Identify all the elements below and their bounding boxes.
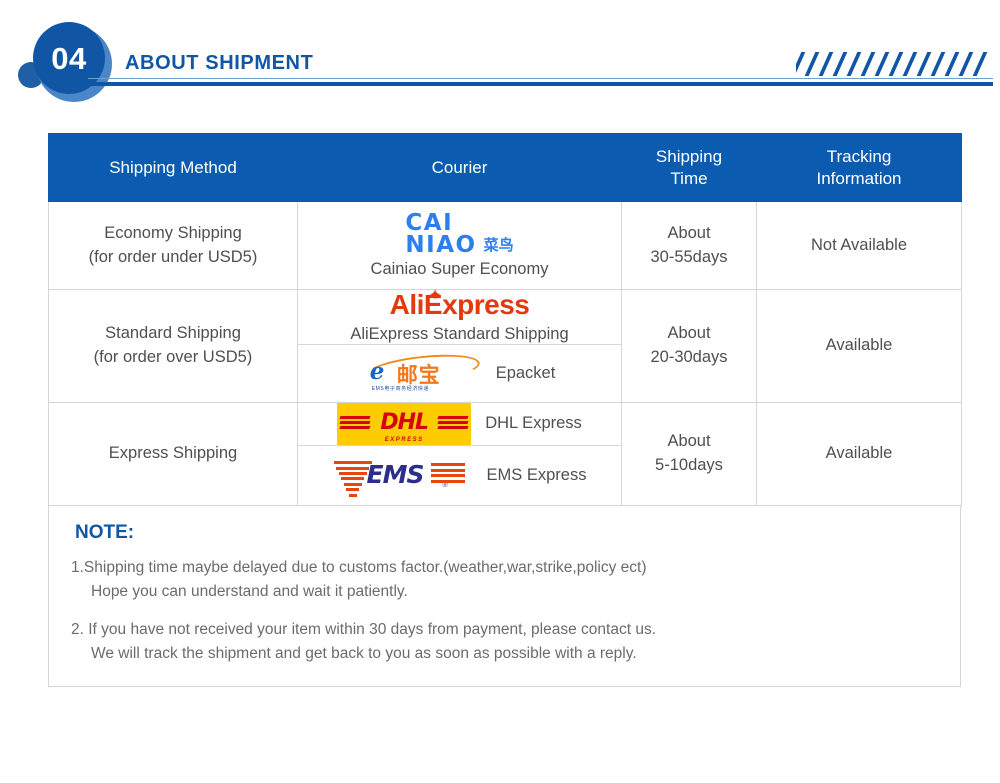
courier-name: EMS Express [487,466,587,485]
ems-logo-text: EMS [367,460,424,489]
cell-shipping-time: About 30-55days [622,202,757,290]
cell-shipping-time: About 5-10days [622,402,757,505]
courier-row: EMS ® EMS Express [298,457,621,493]
diagonal-stripe [861,52,876,76]
diagonal-stripes-icon [796,52,994,76]
diagonal-stripe [917,52,932,76]
courier-row: e 邮宝 EMS电子商务经济快递 Epacket [298,355,621,391]
column-header-shipping-time-line1: Shipping [622,146,756,168]
shipping-time-text: About 20-30days [622,314,756,378]
header-rule-thin [88,78,993,79]
diagonal-stripe [973,52,988,76]
tracking-status: Available [757,434,961,474]
cell-courier: EMS ® EMS Express [298,445,622,505]
aliexpress-logo-text: AliExpress [390,289,530,320]
courier-row: DHL EXPRESS DHL Express [298,403,621,445]
cainiao-logo: CAI NIAO 菜鸟 [405,212,513,256]
shipping-method-line2: (for order under USD5) [55,246,291,270]
diagonal-stripe [959,52,974,76]
section-number: 04 [51,43,86,74]
diagonal-stripe [903,52,918,76]
courier-name: Epacket [496,364,556,383]
shipping-time-line1: About [628,222,750,246]
cainiao-logo-chinese: 菜鸟 [484,234,514,256]
header-rule [88,82,993,86]
shipping-method-text: Standard Shipping (for order over USD5) [49,314,297,378]
cell-shipping-method: Standard Shipping (for order over USD5) [49,290,298,403]
dhl-right-bars-icon [438,416,468,429]
ems-stripe [344,483,362,486]
column-header-shipping-time: Shipping Time [622,134,757,202]
ems-stripe [349,494,357,497]
note-item-2-line-2: We will track the shipment and get back … [49,642,960,666]
cell-tracking-information: Not Available [757,202,962,290]
diagonal-stripe [796,52,805,76]
column-header-tracking-line1: Tracking [757,146,961,168]
tracking-status: Not Available [757,226,961,266]
shipping-table-wrapper: Shipping Method Courier Shipping Time Tr… [48,133,961,687]
dhl-logo: DHL EXPRESS [337,403,471,445]
cell-courier: ✦ AliExpress AliExpress Standard Shippin… [298,290,622,345]
cell-courier: DHL EXPRESS DHL Express [298,402,622,445]
note-item-1-line-1: 1.Shipping time maybe delayed due to cus… [49,556,960,580]
note-spacer [49,604,960,618]
cell-tracking-information: Available [757,290,962,403]
shipping-method-text: Express Shipping [49,434,297,474]
cell-courier: e 邮宝 EMS电子商务经济快递 Epacket [298,344,622,402]
cell-shipping-time: About 20-30days [622,290,757,403]
courier-name: Cainiao Super Economy [298,260,621,279]
column-header-tracking-information: Tracking Information [757,134,962,202]
ems-stripe [341,477,364,480]
cell-courier: CAI NIAO 菜鸟 Cainiao Super Economy [298,202,622,290]
ems-logo: EMS ® [333,457,473,493]
epacket-logo: e 邮宝 EMS电子商务经济快递 [364,355,482,391]
shipping-time-line2: 30-55days [628,246,750,270]
page-title: ABOUT SHIPMENT [125,52,313,75]
diagonal-stripe [833,52,848,76]
diagonal-stripe [945,52,960,76]
aliexpress-logo: ✦ AliExpress [390,290,530,321]
dhl-logo-subtext: EXPRESS [337,437,471,443]
shipping-time-line2: 20-30days [628,346,750,370]
epacket-logo-tagline: EMS电子商务经济快递 [372,385,429,392]
courier-name: AliExpress Standard Shipping [298,325,621,344]
note-title: NOTE: [49,520,960,556]
shipping-time-line1: About [628,322,750,346]
shipping-method-line1: Standard Shipping [55,322,291,346]
diagonal-stripe [805,52,820,76]
diagonal-stripe [819,52,834,76]
cell-shipping-method: Economy Shipping (for order under USD5) [49,202,298,290]
diagonal-stripe [847,52,862,76]
cell-shipping-method: Express Shipping [49,402,298,505]
aliexpress-star-icon: ✦ [430,288,440,302]
column-header-tracking-line2: Information [757,168,961,190]
cainiao-logo-letters: CAI NIAO [405,212,476,256]
column-header-shipping-time-line2: Time [622,168,756,190]
note-section: NOTE: 1.Shipping time maybe delayed due … [48,506,961,687]
table-header-row: Shipping Method Courier Shipping Time Tr… [49,134,962,202]
diagonal-stripe [931,52,946,76]
ems-stripe [346,488,359,491]
shipping-method-line1: Express Shipping [55,442,291,466]
tracking-status: Available [757,326,961,366]
cainiao-logo-line2: NIAO [405,234,476,256]
shipping-method-line1: Economy Shipping [55,222,291,246]
cainiao-logo-line1: CAI [405,212,476,234]
ems-stripe [336,467,369,470]
column-header-courier: Courier [298,134,622,202]
ems-right-bars-icon [431,463,465,485]
section-header: 04 ABOUT SHIPMENT [0,0,1000,110]
diagonal-stripe [875,52,890,76]
cell-tracking-information: Available [757,402,962,505]
note-item-1-line-2: Hope you can understand and wait it pati… [49,580,960,604]
shipping-time-text: About 30-55days [622,214,756,278]
note-item-2-line-1: 2. If you have not received your item wi… [49,618,960,642]
table-row: Express Shipping DHL EXPRESS DHL Express [49,402,962,445]
shipping-time-text: About 5-10days [622,422,756,486]
diagonal-stripe [889,52,904,76]
column-header-shipping-method: Shipping Method [49,134,298,202]
shipping-method-text: Economy Shipping (for order under USD5) [49,214,297,278]
epacket-logo-e: e [370,358,385,385]
ems-stripe [339,472,367,475]
table-row: Economy Shipping (for order under USD5) … [49,202,962,290]
shipping-time-line1: About [628,430,750,454]
shipping-method-line2: (for order over USD5) [55,346,291,370]
shipping-table: Shipping Method Courier Shipping Time Tr… [48,133,962,506]
table-row: Standard Shipping (for order over USD5) … [49,290,962,345]
shipping-time-line2: 5-10days [628,454,750,478]
courier-name: DHL Express [485,414,582,433]
